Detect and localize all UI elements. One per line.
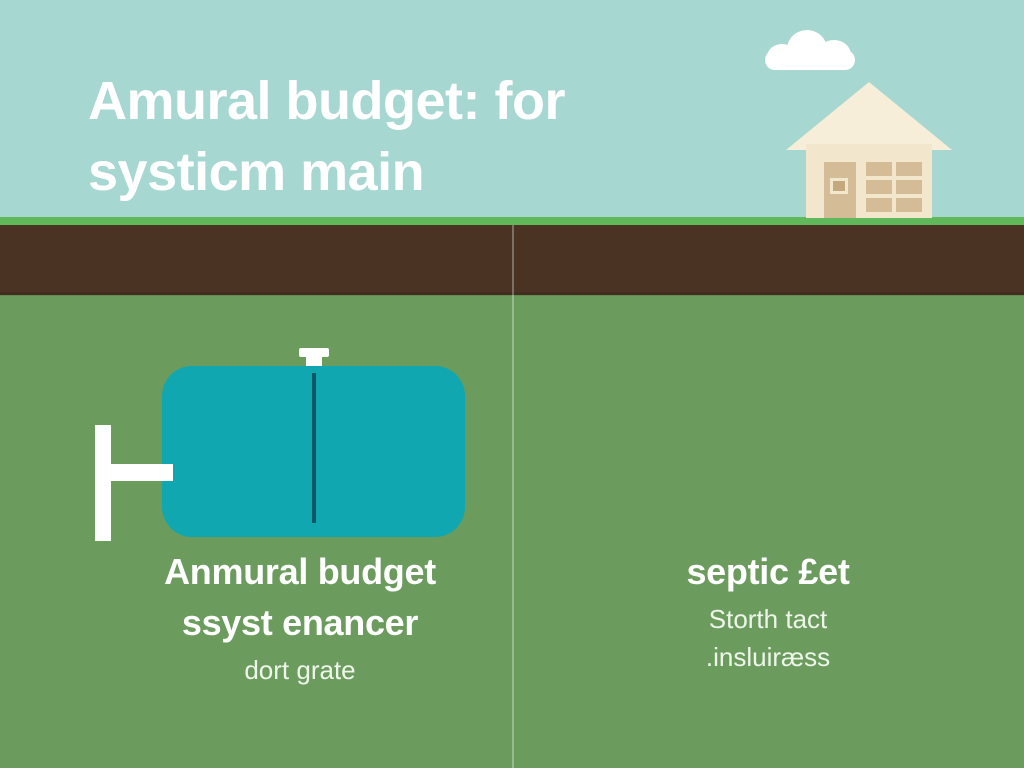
- right-subline-line-1: Storth tact: [548, 601, 988, 638]
- house-icon: [786, 82, 952, 218]
- left-headline: Anmural budget ssyst enancer: [60, 546, 540, 648]
- left-headline-line-2: ssyst enancer: [60, 597, 540, 648]
- window-pane: [866, 180, 892, 194]
- window-pane: [896, 180, 922, 194]
- right-subline-line-2: .insluiræss: [548, 639, 988, 676]
- title-line-1: Amural budget: for: [88, 66, 768, 137]
- page-title: Amural budget: for systicm main: [88, 66, 768, 209]
- left-subline: dort grate: [60, 652, 540, 689]
- window-pane: [896, 162, 922, 176]
- window-pane: [896, 198, 922, 212]
- window-pane: [866, 198, 892, 212]
- title-line-2: systicm main: [88, 137, 768, 208]
- tank-baffle-divider: [312, 373, 316, 523]
- left-headline-line-1: Anmural budget: [60, 546, 540, 597]
- right-subline: Storth tact .insluiræss: [548, 601, 988, 676]
- right-headline-line-1: septic £et: [548, 546, 988, 597]
- septic-system-illustration: Amural budget: for systicm main Anmural …: [0, 0, 1024, 768]
- left-text-column: Anmural budget ssyst enancer dort grate: [60, 546, 540, 690]
- right-text-column: septic £et Storth tact .insluiræss: [548, 546, 988, 676]
- cloud-icon: [763, 30, 857, 70]
- house-roof: [786, 82, 952, 150]
- window-pane: [866, 162, 892, 176]
- inlet-pipe-vertical: [95, 425, 111, 541]
- cloud-puff-right: [817, 40, 851, 70]
- right-headline: septic £et: [548, 546, 988, 597]
- grass-band: [0, 217, 1024, 225]
- house-window: [866, 162, 922, 212]
- house-door-window: [830, 178, 848, 194]
- left-subline-line-1: dort grate: [60, 652, 540, 689]
- inlet-pipe-horizontal: [95, 464, 173, 481]
